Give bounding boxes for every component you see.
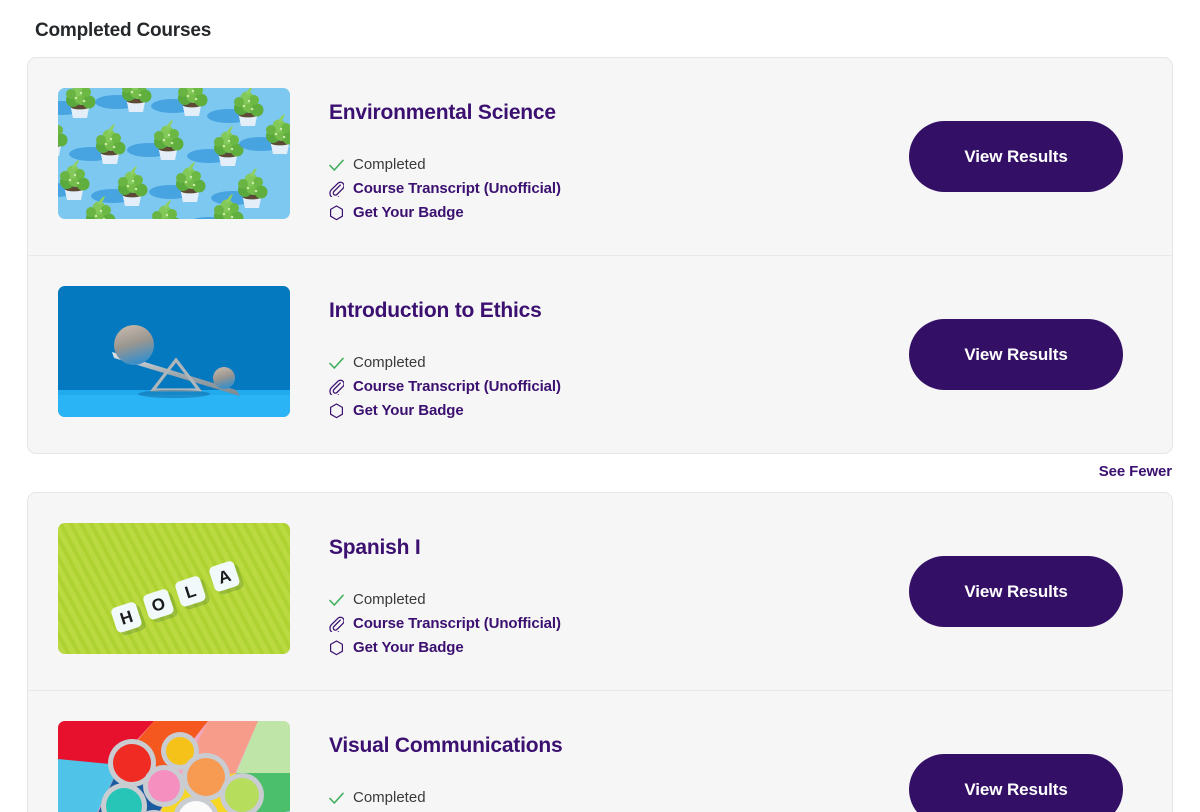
hexagon-icon [329,639,348,658]
course-badge-link[interactable]: Get Your Badge [329,399,909,423]
view-results-button[interactable]: View Results [909,754,1123,812]
check-icon [329,789,348,808]
course-status-label: Completed [353,786,426,810]
course-action: View Results [909,319,1144,390]
course-card-group-2: H O L [27,492,1173,812]
course-title: Spanish I [329,535,909,561]
course-action: View Results [909,754,1144,812]
see-fewer-link[interactable]: See Fewer [1099,463,1172,480]
course-info: Environmental Science Completed Course T… [290,88,909,225]
course-badge-link[interactable]: Get Your Badge [329,201,909,225]
course-info: Spanish I Completed Course Transcript (U… [290,523,909,660]
course-status: Completed [329,351,909,375]
course-title: Environmental Science [329,100,909,126]
hexagon-icon [329,402,348,421]
course-transcript-link[interactable]: Course Transcript (Unofficial) [329,612,909,636]
course-badge-label: Get Your Badge [353,399,464,423]
course-info: Visual Communications Completed Course T… [290,721,909,812]
course-row: Introduction to Ethics Completed Course … [28,255,1172,453]
course-card-group-1: Environmental Science Completed Course T… [27,57,1173,454]
course-transcript-label: Course Transcript (Unofficial) [353,177,561,201]
course-action: View Results [909,121,1144,192]
balance-scale-thumbnail [58,286,290,417]
course-status: Completed [329,786,909,810]
hola-letter-cubes-thumbnail: H O L [58,523,290,654]
check-icon [329,354,348,373]
course-info: Introduction to Ethics Completed Course … [290,286,909,423]
view-results-button[interactable]: View Results [909,556,1123,627]
course-action: View Results [909,556,1144,627]
paperclip-icon [329,378,348,397]
course-status: Completed [329,153,909,177]
completed-courses-page: Completed Courses [0,0,1200,812]
view-results-button[interactable]: View Results [909,121,1123,192]
course-row: Environmental Science Completed Course T… [28,58,1172,255]
course-transcript-link[interactable]: Course Transcript (Unofficial) [329,177,909,201]
paperclip-icon [329,615,348,634]
hexagon-icon [329,204,348,223]
course-badge-label: Get Your Badge [353,201,464,225]
course-row: H O L [28,493,1172,690]
course-transcript-label: Course Transcript (Unofficial) [353,612,561,636]
course-status-label: Completed [353,351,426,375]
course-status: Completed [329,588,909,612]
course-title: Introduction to Ethics [329,298,909,324]
course-badge-label: Get Your Badge [353,636,464,660]
course-badge-link[interactable]: Get Your Badge [329,636,909,660]
view-results-button[interactable]: View Results [909,319,1123,390]
course-status-label: Completed [353,588,426,612]
paint-cans-thumbnail [58,721,290,812]
check-icon [329,156,348,175]
potted-plants-pattern-thumbnail [58,88,290,219]
see-fewer-row: See Fewer [27,454,1173,480]
course-transcript-link[interactable]: Course Transcript (Unofficial) [329,375,909,399]
course-row: Visual Communications Completed Course T… [28,690,1172,812]
check-icon [329,591,348,610]
course-status-label: Completed [353,153,426,177]
page-title: Completed Courses [27,0,1173,45]
course-transcript-label: Course Transcript (Unofficial) [353,375,561,399]
paperclip-icon [329,180,348,199]
course-title: Visual Communications [329,733,909,759]
